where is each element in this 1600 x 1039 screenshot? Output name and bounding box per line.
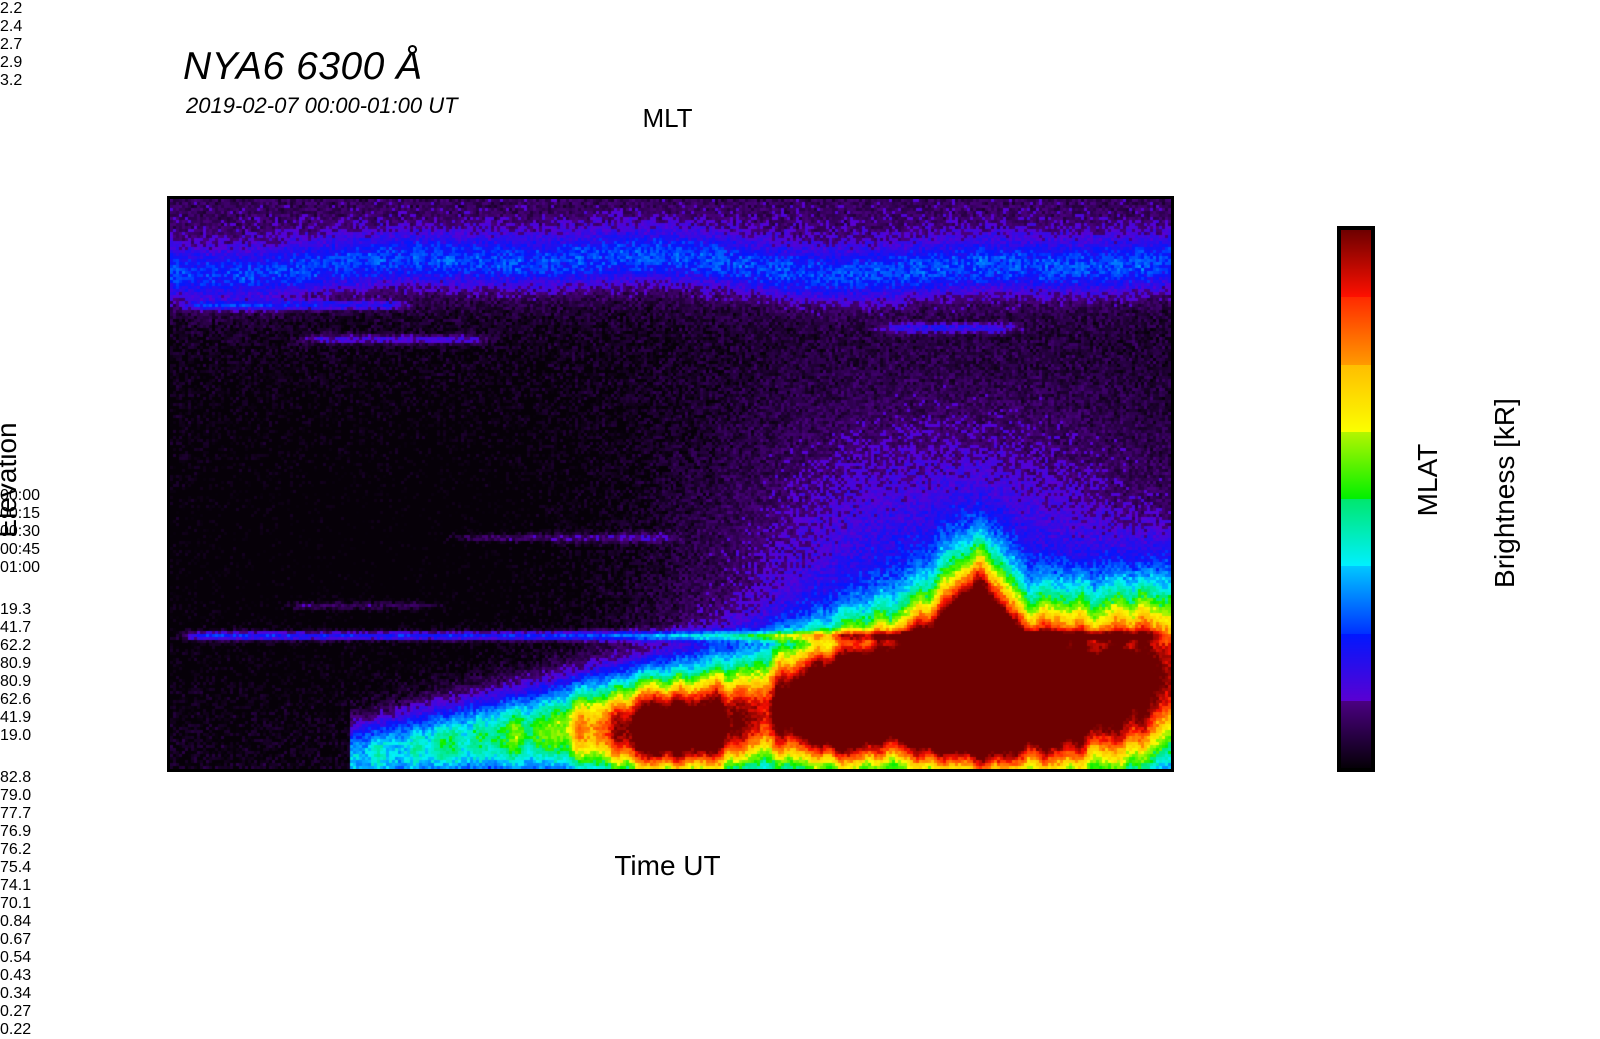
left-axis-tick-label: 19.3 <box>0 601 168 619</box>
colorbar-tick-label: 0.27 <box>0 1003 110 1021</box>
top-axis-tick-label: 2.9 <box>0 54 120 72</box>
colorbar-segment <box>1341 499 1371 566</box>
top-minor-tick <box>0 232 3 242</box>
top-minor-tick <box>0 156 3 166</box>
colorbar-segment <box>1341 230 1371 297</box>
top-minor-tick <box>0 222 3 232</box>
top-minor-tick <box>0 184 3 194</box>
bottom-major-tick <box>0 312 3 331</box>
right-axis-tick-label: 82.8 <box>0 769 140 787</box>
colorbar-segment <box>1341 365 1371 432</box>
left-axis-title: Elevation <box>0 330 23 630</box>
top-minor-tick <box>0 194 3 204</box>
colorbar-segment <box>1341 634 1371 701</box>
top-axis-tick-label: 2.7 <box>0 36 120 54</box>
page-subtitle: 2019-02-07 00:00-01:00 UT <box>186 93 458 119</box>
bottom-minor-tick <box>0 290 3 301</box>
bottom-major-tick <box>0 260 3 279</box>
bottom-minor-tick <box>0 279 3 290</box>
right-axis-tick-label: 76.2 <box>0 841 140 859</box>
colorbar-title: Brightness [kR] <box>1489 328 1521 658</box>
right-axis-tick-label: 70.1 <box>0 895 140 913</box>
colorbar-tick-label: 0.22 <box>0 1021 110 1039</box>
page-title: NYA6 6300 Å <box>183 45 423 89</box>
keogram-figure: NYA6 6300 Å 2019-02-07 00:00-01:00 UT ML… <box>0 0 1600 1000</box>
left-axis-tick-label: 80.9 <box>0 655 168 673</box>
colorbar-segment <box>1341 566 1371 633</box>
bottom-axis-title: Time UT <box>548 850 788 882</box>
top-axis-tick-label: 3.2 <box>0 72 120 90</box>
colorbar-segment <box>1341 297 1371 364</box>
colorbar-tick-labels: 0.840.670.540.430.340.270.22 <box>0 913 1600 1039</box>
left-axis-tick-label: 19.0 <box>0 727 168 745</box>
top-major-tick <box>0 128 3 146</box>
colorbar-segment <box>1341 701 1371 768</box>
top-major-tick <box>0 166 3 184</box>
right-axis-tick-label: 76.9 <box>0 823 140 841</box>
top-minor-tick <box>0 108 3 118</box>
colorbar <box>1337 226 1375 772</box>
right-axis-tick-label: 79.0 <box>0 787 140 805</box>
keogram-plot-area <box>167 196 1174 772</box>
top-axis-title: MLT <box>623 103 713 134</box>
right-axis-title: MLAT <box>1412 330 1444 630</box>
left-axis-tick-label: 62.2 <box>0 637 168 655</box>
top-major-tick <box>0 242 3 260</box>
left-axis-tick-label: 80.9 <box>0 673 168 691</box>
right-axis-tick-label: 77.7 <box>0 805 140 823</box>
right-axis-tick-labels: 82.879.077.776.976.275.474.170.1 <box>0 769 1600 913</box>
top-axis-tick-label: 2.4 <box>0 18 120 36</box>
left-axis-tick-label: 41.7 <box>0 619 168 637</box>
right-axis-tick-label: 75.4 <box>0 859 140 877</box>
colorbar-tick-label: 0.34 <box>0 985 110 1003</box>
colorbar-tick-label: 0.84 <box>0 913 110 931</box>
left-axis-tick-label: 41.9 <box>0 709 168 727</box>
top-minor-tick <box>0 146 3 156</box>
colorbar-tick-label: 0.54 <box>0 949 110 967</box>
top-minor-tick <box>0 118 3 128</box>
colorbar-segment <box>1341 432 1371 499</box>
keogram-image <box>170 199 1171 769</box>
top-major-tick <box>0 90 3 108</box>
left-axis-tick-label: 62.6 <box>0 691 168 709</box>
top-major-tick <box>0 204 3 222</box>
colorbar-tick-label: 0.43 <box>0 967 110 985</box>
colorbar-tick-label: 0.67 <box>0 931 110 949</box>
bottom-minor-tick <box>0 301 3 312</box>
right-axis-tick-label: 74.1 <box>0 877 140 895</box>
top-axis-tick-label: 2.2 <box>0 0 120 18</box>
